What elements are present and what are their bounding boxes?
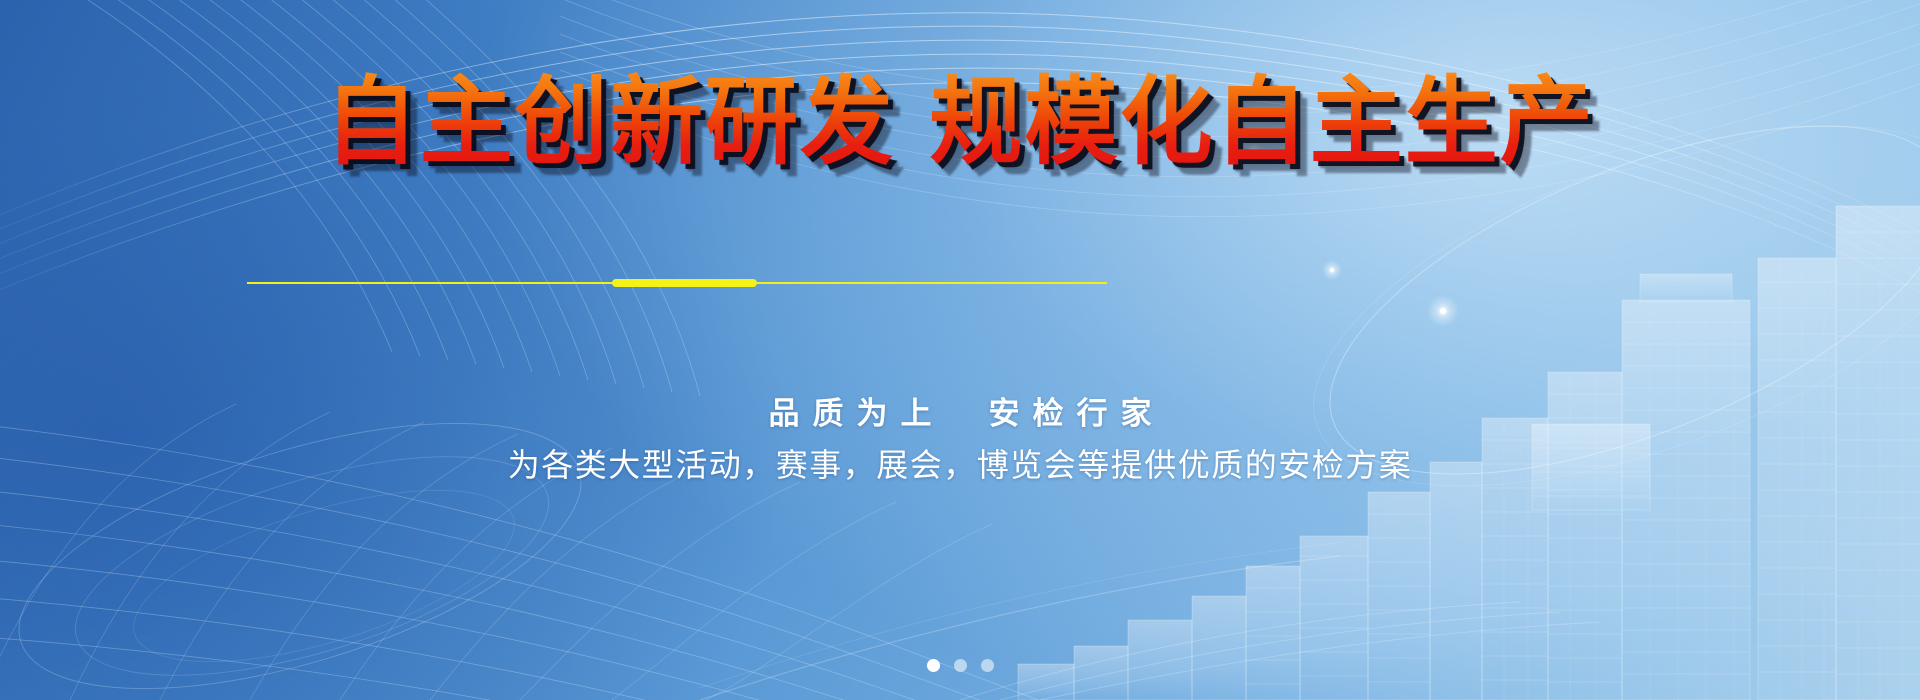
carousel-dot-1[interactable] bbox=[927, 659, 940, 672]
yellow-divider bbox=[247, 278, 1107, 288]
banner-subtitle-secondary: 为各类大型活动，赛事，展会，博览会等提供优质的安检方案 bbox=[0, 440, 1920, 486]
headline-container: 自主创新研发 规模化自主生产 bbox=[0, 72, 1920, 173]
carousel-dot-2[interactable] bbox=[954, 659, 967, 672]
carousel-dots[interactable] bbox=[0, 659, 1920, 672]
banner-subtitle-primary: 品质为上 安检行家 bbox=[0, 388, 1920, 433]
light-spark-icon bbox=[1427, 295, 1459, 327]
banner-headline: 自主创新研发 规模化自主生产 bbox=[325, 72, 1595, 173]
hero-banner-slide: 自主创新研发 规模化自主生产 品质为上 安检行家 为各类大型活动，赛事，展会，博… bbox=[0, 0, 1920, 700]
carousel-dot-3[interactable] bbox=[981, 659, 994, 672]
divider-thick-accent bbox=[612, 279, 757, 287]
